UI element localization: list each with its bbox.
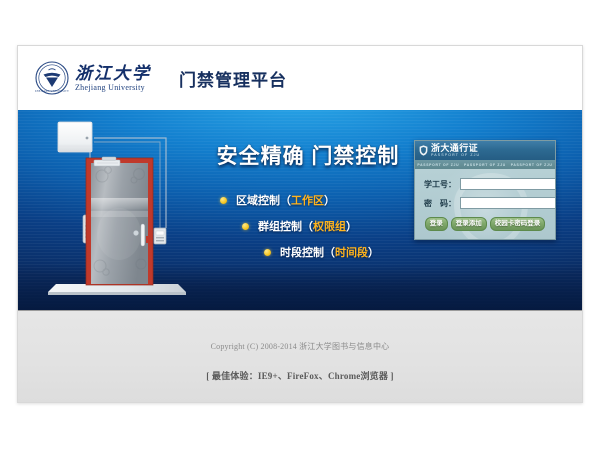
door-access-control-illustration xyxy=(42,116,192,308)
zju-wordmark: 浙江大学 Zhejiang University xyxy=(75,65,151,92)
feature-item-area-control: 区域控制（ 工作区 ） xyxy=(194,192,422,208)
login-panel-titlebar: 浙大通行证 PASSPORT OF ZJU xyxy=(415,141,555,160)
controller-box xyxy=(58,122,92,152)
feature-text: 区域控制（ xyxy=(236,192,291,208)
hero-banner: 安全精确 门禁控制 区域控制（ 工作区 ） 群组控制（ 权限组 ） 时段控制（ xyxy=(18,110,582,310)
browser-recommendation-text: [ 最佳体验：IE9+、FireFox、Chrome浏览器 ] xyxy=(18,369,582,382)
copyright-text: Copyright (C) 2008-2014 浙江大学图书与信息中心 xyxy=(18,341,582,352)
university-name-en: Zhejiang University xyxy=(75,84,151,92)
password-field-row: 密 码： xyxy=(422,197,548,209)
staff-id-label: 学工号： xyxy=(422,179,460,190)
feature-tail: ） xyxy=(368,244,379,260)
feature-accent: 工作区 xyxy=(291,192,324,208)
feature-tail: ） xyxy=(324,192,335,208)
feature-list: 区域控制（ 工作区 ） 群组控制（ 权限组 ） 时段控制（ 时间段 ） xyxy=(194,192,422,260)
login-panel-watermark-strip: PASSPORT OF ZJU PASSPORT OF ZJU PASSPORT… xyxy=(415,160,555,169)
staff-id-field-row: 学工号： xyxy=(422,178,548,190)
bullet-icon xyxy=(242,223,249,230)
slogan-headline: 安全精确 门禁控制 xyxy=(194,140,422,170)
login-add-button[interactable]: 登录添加 xyxy=(451,217,487,231)
feature-accent: 时间段 xyxy=(335,244,368,260)
feature-item-time-control: 时段控制（ 时间段 ） xyxy=(194,244,422,260)
site-footer: Copyright (C) 2008-2014 浙江大学图书与信息中心 [ 最佳… xyxy=(18,310,582,402)
zju-seal-icon: ZHEJIANG UNIVERSITY xyxy=(35,61,69,95)
card-reader xyxy=(154,228,166,244)
feature-accent: 权限组 xyxy=(313,218,346,234)
feature-item-group-control: 群组控制（ 权限组 ） xyxy=(194,218,422,234)
login-button-row: 登录 登录添加 校园卡密码登录 xyxy=(422,217,548,231)
campus-card-login-button[interactable]: 校园卡密码登录 xyxy=(490,217,546,231)
password-input[interactable] xyxy=(460,197,556,209)
zju-logo[interactable]: ZHEJIANG UNIVERSITY 浙江大学 Zhejiang Univer… xyxy=(35,61,151,95)
slogan-block: 安全精确 门禁控制 区域控制（ 工作区 ） 群组控制（ 权限组 ） 时段控制（ xyxy=(194,140,422,270)
login-panel-title-en: PASSPORT OF ZJU xyxy=(431,154,480,158)
ground-platform xyxy=(48,284,186,295)
page-container: ZHEJIANG UNIVERSITY 浙江大学 Zhejiang Univer… xyxy=(17,45,583,403)
watermark-text: PASSPORT OF ZJU xyxy=(511,163,553,167)
watermark-text: PASSPORT OF ZJU xyxy=(417,163,459,167)
staff-id-input[interactable] xyxy=(460,178,556,190)
bullet-icon xyxy=(264,249,271,256)
bullet-icon xyxy=(220,197,227,204)
login-button[interactable]: 登录 xyxy=(425,217,448,231)
site-header: ZHEJIANG UNIVERSITY 浙江大学 Zhejiang Univer… xyxy=(18,46,582,110)
login-panel: 浙大通行证 PASSPORT OF ZJU PASSPORT OF ZJU PA… xyxy=(414,140,556,240)
feature-tail: ） xyxy=(346,218,357,234)
door-with-red-frame xyxy=(86,157,153,285)
watermark-text: PASSPORT OF ZJU xyxy=(464,163,506,167)
password-label: 密 码： xyxy=(422,198,460,209)
feature-text: 时段控制（ xyxy=(280,244,335,260)
university-name-cn: 浙江大学 xyxy=(75,65,151,82)
login-panel-body: 学工号： 密 码： 登录 登录添加 校园卡密码登录 xyxy=(415,169,555,239)
shield-icon xyxy=(419,145,428,156)
svg-text:ZHEJIANG UNIVERSITY: ZHEJIANG UNIVERSITY xyxy=(35,90,69,93)
platform-title: 门禁管理平台 xyxy=(179,66,287,91)
login-panel-title-cn: 浙大通行证 xyxy=(431,144,480,153)
feature-text: 群组控制（ xyxy=(258,218,313,234)
